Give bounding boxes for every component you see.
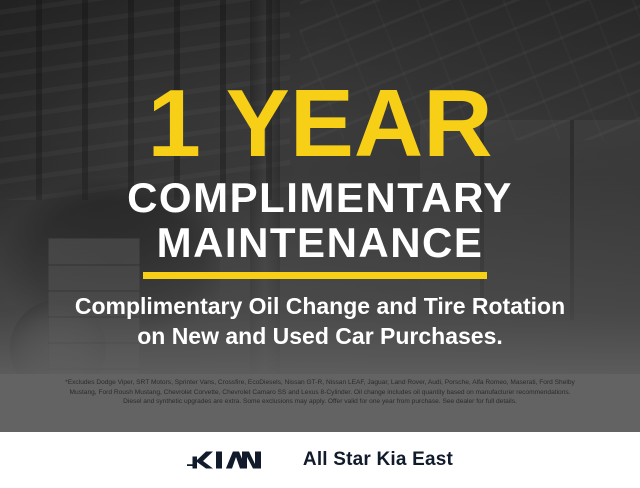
disclaimer-line-3: Diesel and synthetic upgrades are extra.… — [8, 397, 632, 407]
disclaimer-line-2: Mustang, Ford Roush Mustang, Chevrolet C… — [8, 388, 632, 398]
kia-logo — [187, 449, 275, 471]
promotional-ad-banner: 1 YEAR COMPLIMENTARY MAINTENANCE Complim… — [0, 0, 640, 488]
subheadline-line-1: Complimentary Oil Change and Tire Rotati… — [0, 292, 640, 320]
footer-bar: All Star Kia East — [0, 432, 640, 488]
dealer-name: All Star Kia East — [303, 449, 453, 471]
disclaimer-line-1: *Excludes Dodge Viper, SRT Motors, Sprin… — [8, 378, 632, 388]
disclaimer-text: *Excludes Dodge Viper, SRT Motors, Sprin… — [8, 378, 632, 407]
yellow-divider-rule — [143, 272, 487, 279]
headline-maintenance: MAINTENANCE — [0, 222, 640, 264]
subheadline-line-2: on New and Used Car Purchases. — [0, 322, 640, 350]
headline-complimentary: COMPLIMENTARY — [0, 177, 640, 219]
headline-year: 1 YEAR — [0, 76, 640, 172]
